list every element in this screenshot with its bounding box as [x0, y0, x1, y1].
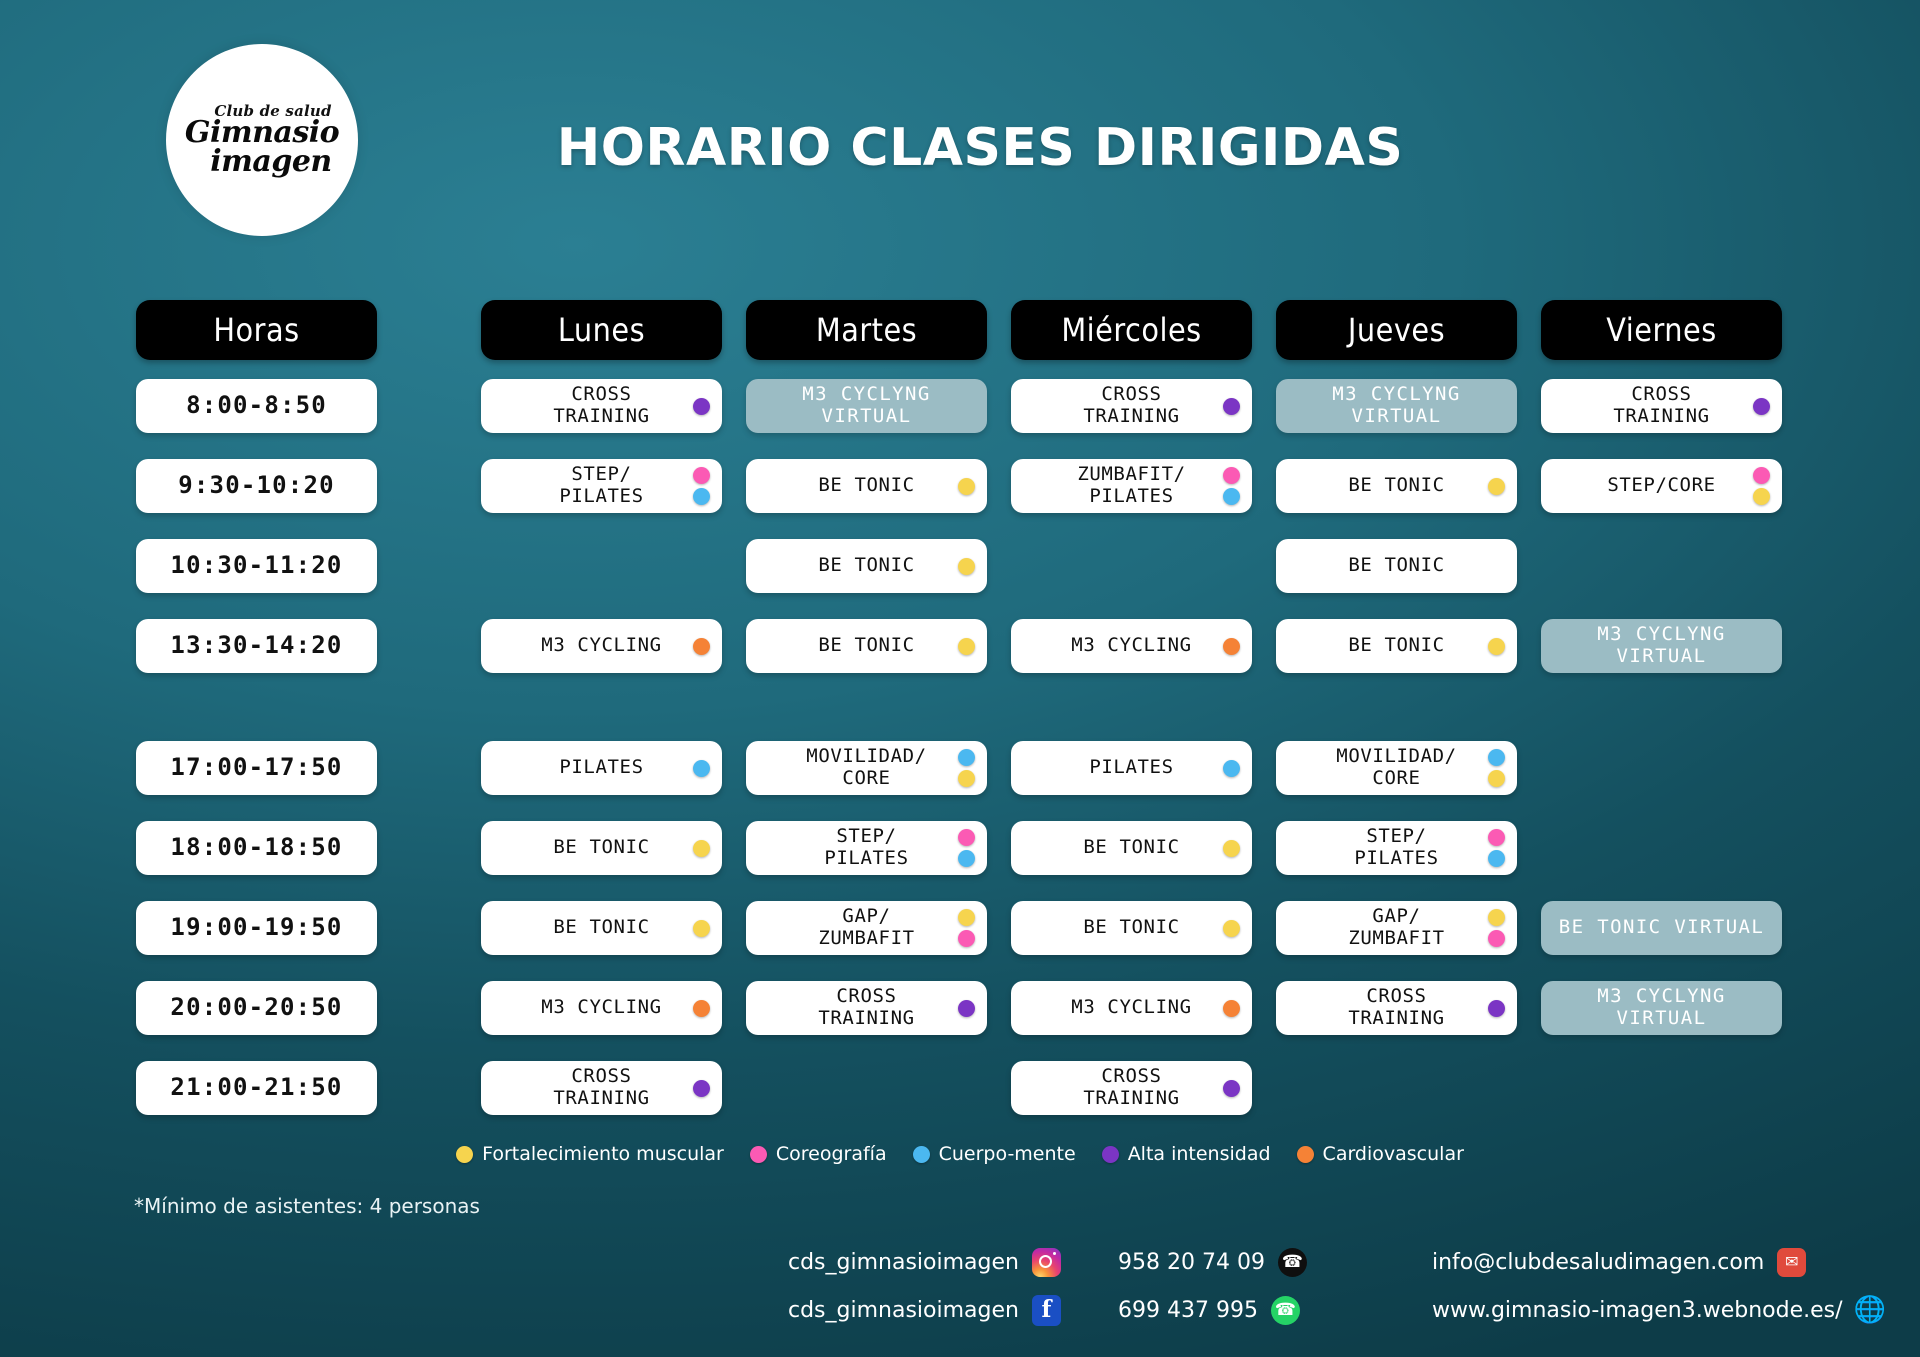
category-dot-yellow	[1488, 909, 1505, 926]
category-dot-blue	[1223, 760, 1240, 777]
legend-item: Coreografía	[750, 1143, 887, 1165]
category-dot-yellow	[693, 920, 710, 937]
category-dot-orange	[1223, 638, 1240, 655]
cell-label: BE TONIC VIRTUAL	[1559, 917, 1764, 939]
class-cell[interactable]: BE TONIC	[746, 539, 987, 593]
header-day-lunes: Lunes	[481, 300, 722, 360]
cell-label: M3 CYCLING	[1071, 997, 1191, 1019]
legend-item: Fortalecimiento muscular	[456, 1143, 724, 1165]
category-dots	[693, 619, 710, 673]
cell-label: M3 CYCLING	[541, 635, 661, 657]
class-cell[interactable]: M3 CYCLYNG VIRTUAL	[746, 379, 987, 433]
category-dots	[1223, 379, 1240, 433]
class-cell[interactable]: BE TONIC	[1011, 821, 1252, 875]
class-cell	[481, 539, 722, 593]
category-dot-pink	[1488, 930, 1505, 947]
whatsapp-row[interactable]: 699 437 995 ☎	[1118, 1286, 1307, 1334]
legend: Fortalecimiento muscularCoreografíaCuerp…	[0, 1143, 1920, 1165]
cell-label: 10:30-11:20	[170, 552, 342, 580]
category-dot-blue	[1223, 488, 1240, 505]
category-dots	[1223, 821, 1240, 875]
minimum-attendees-note: *Mínimo de asistentes: 4 personas	[134, 1194, 480, 1218]
cell-label: 20:00-20:50	[170, 994, 342, 1022]
cell-label: CROSS TRAINING	[1613, 384, 1709, 428]
category-dot-pink	[1753, 467, 1770, 484]
cell-label: CROSS TRAINING	[553, 384, 649, 428]
header-day-jueves: Jueves	[1276, 300, 1517, 360]
cell-label: CROSS TRAINING	[553, 1066, 649, 1110]
class-cell[interactable]: MOVILIDAD/ CORE	[1276, 741, 1517, 795]
cell-label: STEP/ PILATES	[1354, 826, 1438, 870]
cell-label: MOVILIDAD/ CORE	[806, 746, 926, 790]
cell-label: BE TONIC	[818, 635, 914, 657]
category-dot-purple	[1488, 1000, 1505, 1017]
category-dots	[958, 741, 975, 795]
category-dot-yellow	[958, 638, 975, 655]
hours-cell[interactable]: 10:30-11:20	[136, 539, 377, 593]
category-dot-blue	[958, 749, 975, 766]
cell-label: 18:00-18:50	[170, 834, 342, 862]
cell-label: M3 CYCLYNG VIRTUAL	[1597, 624, 1725, 668]
category-dot-purple	[693, 398, 710, 415]
legend-label: Fortalecimiento muscular	[482, 1143, 724, 1165]
category-dot-yellow	[1223, 920, 1240, 937]
phone-row[interactable]: 958 20 74 09 ☎	[1118, 1238, 1307, 1286]
category-dots	[958, 459, 975, 513]
legend-item: Cuerpo-mente	[913, 1143, 1076, 1165]
class-cell	[1541, 539, 1782, 593]
cell-label: STEP/ PILATES	[559, 464, 643, 508]
logo-line-2: imagen	[203, 148, 339, 177]
category-dot-pink	[958, 829, 975, 846]
category-dots	[1753, 379, 1770, 433]
page-title: HORARIO CLASES DIRIGIDAS	[400, 118, 1560, 178]
header-hours: Horas	[136, 300, 377, 360]
category-dot-yellow	[1223, 840, 1240, 857]
category-dots	[958, 821, 975, 875]
facebook-handle: cds_gimnasioimagen	[788, 1298, 1019, 1323]
phone-icon[interactable]: ☎	[1278, 1248, 1307, 1277]
category-dots	[693, 459, 710, 513]
legend-dot-orange	[1297, 1146, 1314, 1163]
category-dot-pink	[693, 467, 710, 484]
category-dot-yellow	[958, 478, 975, 495]
schedule-grid: Horas8:00-8:509:30-10:2010:30-11:2013:30…	[136, 300, 1796, 1141]
category-dot-orange	[693, 1000, 710, 1017]
cell-label: GAP/ ZUMBAFIT	[1348, 906, 1444, 950]
poster: Club de salud Gimnasio imagen HORARIO CL…	[0, 0, 1920, 1357]
category-dot-yellow	[1488, 638, 1505, 655]
cell-label: CROSS TRAINING	[1083, 384, 1179, 428]
cell-label: PILATES	[559, 757, 643, 779]
header-day-mircoles: Miércoles	[1011, 300, 1252, 360]
column-lunes: LunesCROSS TRAININGSTEP/ PILATESM3 CYCLI…	[481, 300, 722, 1141]
facebook-row[interactable]: cds_gimnasioimagen f	[788, 1286, 1061, 1334]
cell-label: 17:00-17:50	[170, 754, 342, 782]
instagram-handle: cds_gimnasioimagen	[788, 1250, 1019, 1275]
cell-label: PILATES	[1089, 757, 1173, 779]
hours-cell[interactable]: 13:30-14:20	[136, 619, 377, 673]
class-cell	[1541, 821, 1782, 875]
category-dot-purple	[958, 1000, 975, 1017]
category-dots	[1488, 741, 1505, 795]
category-dots	[693, 1061, 710, 1115]
cell-label: ZUMBAFIT/ PILATES	[1077, 464, 1185, 508]
category-dots	[1488, 821, 1505, 875]
column-jueves: JuevesM3 CYCLYNG VIRTUALBE TONICBE TONIC…	[1276, 300, 1517, 1141]
legend-item: Cardiovascular	[1297, 1143, 1464, 1165]
cell-label: STEP/CORE	[1607, 475, 1715, 497]
header-day-viernes: Viernes	[1541, 300, 1782, 360]
class-cell[interactable]: BE TONIC	[481, 901, 722, 955]
cell-label: M3 CYCLYNG VIRTUAL	[802, 384, 930, 428]
category-dot-blue	[1488, 749, 1505, 766]
globe-icon[interactable]: 🌐	[1856, 1296, 1885, 1325]
category-dot-yellow	[958, 770, 975, 787]
class-cell[interactable]: CROSS TRAINING	[746, 981, 987, 1035]
instagram-row[interactable]: cds_gimnasioimagen	[788, 1238, 1061, 1286]
website-row[interactable]: www.gimnasio-imagen3.webnode.es/ 🌐	[1432, 1286, 1885, 1334]
legend-dot-pink	[750, 1146, 767, 1163]
cell-label: BE TONIC	[553, 837, 649, 859]
logo: Club de salud Gimnasio imagen	[166, 44, 358, 236]
category-dots	[958, 981, 975, 1035]
facebook-icon[interactable]: f	[1032, 1295, 1061, 1326]
class-cell[interactable]: BE TONIC	[1011, 901, 1252, 955]
hours-cell[interactable]: 9:30-10:20	[136, 459, 377, 513]
cell-label: M3 CYCLYNG VIRTUAL	[1597, 986, 1725, 1030]
category-dot-purple	[1223, 398, 1240, 415]
cell-label: CROSS TRAINING	[1348, 986, 1444, 1030]
class-cell[interactable]: BE TONIC	[1276, 619, 1517, 673]
category-dot-pink	[958, 930, 975, 947]
class-cell[interactable]: BE TONIC	[1276, 539, 1517, 593]
legend-dot-yellow	[456, 1146, 473, 1163]
class-cell[interactable]: ZUMBAFIT/ PILATES	[1011, 459, 1252, 513]
category-dot-purple	[693, 1080, 710, 1097]
website-url: www.gimnasio-imagen3.webnode.es/	[1432, 1298, 1843, 1323]
category-dot-pink	[1488, 829, 1505, 846]
class-cell[interactable]: CROSS TRAINING	[1011, 1061, 1252, 1115]
column-viernes: ViernesCROSS TRAININGSTEP/COREM3 CYCLYNG…	[1541, 300, 1782, 1141]
class-cell[interactable]: STEP/ PILATES	[481, 459, 722, 513]
category-dots	[958, 619, 975, 673]
class-cell[interactable]: STEP/ PILATES	[746, 821, 987, 875]
cell-label: 8:00-8:50	[186, 392, 327, 420]
class-cell[interactable]: STEP/ PILATES	[1276, 821, 1517, 875]
category-dots	[1223, 1061, 1240, 1115]
cell-label: GAP/ ZUMBAFIT	[818, 906, 914, 950]
column-hours: Horas8:00-8:509:30-10:2010:30-11:2013:30…	[136, 300, 377, 1141]
class-cell[interactable]: M3 CYCLING	[481, 981, 722, 1035]
class-cell[interactable]: PILATES	[1011, 741, 1252, 795]
category-dot-blue	[958, 850, 975, 867]
class-cell	[1276, 1061, 1517, 1115]
hours-cell[interactable]: 20:00-20:50	[136, 981, 377, 1035]
cell-label: 9:30-10:20	[178, 472, 335, 500]
class-cell[interactable]: BE TONIC	[746, 619, 987, 673]
footer: cds_gimnasioimagen cds_gimnasioimagen f …	[0, 1238, 1920, 1348]
cell-label: BE TONIC	[1348, 635, 1444, 657]
legend-label: Alta intensidad	[1128, 1143, 1271, 1165]
category-dot-blue	[693, 760, 710, 777]
class-cell[interactable]: BE TONIC	[481, 821, 722, 875]
email-icon[interactable]: ✉	[1777, 1248, 1806, 1277]
class-cell[interactable]: M3 CYCLING	[1011, 981, 1252, 1035]
cell-label: BE TONIC	[1083, 837, 1179, 859]
schedule-columns: Horas8:00-8:509:30-10:2010:30-11:2013:30…	[136, 300, 1796, 1141]
category-dots	[1488, 459, 1505, 513]
column-martes: MartesM3 CYCLYNG VIRTUALBE TONICBE TONIC…	[746, 300, 987, 1141]
class-cell[interactable]: CROSS TRAINING	[1541, 379, 1782, 433]
legend-dot-purple	[1102, 1146, 1119, 1163]
class-cell[interactable]: GAP/ ZUMBAFIT	[746, 901, 987, 955]
cell-label: 13:30-14:20	[170, 632, 342, 660]
cell-label: 21:00-21:50	[170, 1074, 342, 1102]
hours-cell[interactable]: 19:00-19:50	[136, 901, 377, 955]
legend-dot-blue	[913, 1146, 930, 1163]
class-cell[interactable]: CROSS TRAINING	[481, 379, 722, 433]
class-cell	[1541, 741, 1782, 795]
class-cell[interactable]: GAP/ ZUMBAFIT	[1276, 901, 1517, 955]
whatsapp-icon[interactable]: ☎	[1271, 1296, 1300, 1325]
hours-cell[interactable]: 18:00-18:50	[136, 821, 377, 875]
class-cell[interactable]: CROSS TRAINING	[481, 1061, 722, 1115]
cell-label: BE TONIC	[818, 475, 914, 497]
class-cell[interactable]: STEP/CORE	[1541, 459, 1782, 513]
category-dot-yellow	[1488, 770, 1505, 787]
hours-cell[interactable]: 8:00-8:50	[136, 379, 377, 433]
cell-label: STEP/ PILATES	[824, 826, 908, 870]
category-dots	[1223, 981, 1240, 1035]
cell-label: M3 CYCLYNG VIRTUAL	[1332, 384, 1460, 428]
logo-wordmark: Gimnasio imagen	[185, 119, 339, 176]
category-dot-purple	[1753, 398, 1770, 415]
cell-label: MOVILIDAD/ CORE	[1336, 746, 1456, 790]
category-dots	[693, 821, 710, 875]
category-dots	[1223, 619, 1240, 673]
hours-cell[interactable]: 17:00-17:50	[136, 741, 377, 795]
class-cell[interactable]: M3 CYCLYNG VIRTUAL	[1541, 619, 1782, 673]
category-dot-blue	[693, 488, 710, 505]
cell-label: BE TONIC	[1348, 475, 1444, 497]
category-dot-yellow	[1488, 478, 1505, 495]
category-dot-blue	[1488, 850, 1505, 867]
instagram-icon[interactable]	[1032, 1248, 1061, 1277]
hours-cell[interactable]: 21:00-21:50	[136, 1061, 377, 1115]
category-dot-pink	[1223, 467, 1240, 484]
class-cell[interactable]: BE TONIC	[1276, 459, 1517, 513]
class-cell	[746, 1061, 987, 1115]
cell-label: CROSS TRAINING	[818, 986, 914, 1030]
cell-label: 19:00-19:50	[170, 914, 342, 942]
header-day-martes: Martes	[746, 300, 987, 360]
class-cell	[1011, 539, 1252, 593]
legend-item: Alta intensidad	[1102, 1143, 1271, 1165]
category-dot-orange	[1223, 1000, 1240, 1017]
category-dots	[1223, 459, 1240, 513]
class-cell[interactable]: CROSS TRAINING	[1011, 379, 1252, 433]
class-cell[interactable]: BE TONIC VIRTUAL	[1541, 901, 1782, 955]
legend-label: Cardiovascular	[1323, 1143, 1464, 1165]
cell-label: BE TONIC	[1348, 555, 1444, 577]
category-dots	[1488, 981, 1505, 1035]
phone-number: 958 20 74 09	[1118, 1250, 1265, 1275]
class-cell[interactable]: MOVILIDAD/ CORE	[746, 741, 987, 795]
class-cell[interactable]: M3 CYCLYNG VIRTUAL	[1541, 981, 1782, 1035]
category-dots	[1753, 459, 1770, 513]
category-dot-purple	[1223, 1080, 1240, 1097]
category-dots	[693, 379, 710, 433]
class-cell[interactable]: M3 CYCLING	[1011, 619, 1252, 673]
category-dot-yellow	[1753, 488, 1770, 505]
class-cell[interactable]: M3 CYCLYNG VIRTUAL	[1276, 379, 1517, 433]
cell-label: M3 CYCLING	[541, 997, 661, 1019]
category-dots	[958, 539, 975, 593]
class-cell[interactable]: CROSS TRAINING	[1276, 981, 1517, 1035]
category-dots	[1488, 901, 1505, 955]
cell-label: BE TONIC	[818, 555, 914, 577]
whatsapp-number: 699 437 995	[1118, 1298, 1258, 1323]
email-row[interactable]: info@clubdesaludimagen.com ✉	[1432, 1238, 1885, 1286]
category-dots	[1223, 741, 1240, 795]
category-dot-yellow	[958, 909, 975, 926]
category-dots	[958, 901, 975, 955]
cell-label: CROSS TRAINING	[1083, 1066, 1179, 1110]
cell-label: BE TONIC	[1083, 917, 1179, 939]
category-dots	[693, 901, 710, 955]
class-cell[interactable]: PILATES	[481, 741, 722, 795]
category-dots	[693, 741, 710, 795]
category-dots	[1223, 901, 1240, 955]
class-cell	[1541, 1061, 1782, 1115]
category-dots	[693, 981, 710, 1035]
class-cell[interactable]: M3 CYCLING	[481, 619, 722, 673]
cell-label: BE TONIC	[553, 917, 649, 939]
cell-label: M3 CYCLING	[1071, 635, 1191, 657]
legend-label: Coreografía	[776, 1143, 887, 1165]
legend-label: Cuerpo-mente	[939, 1143, 1076, 1165]
email-address: info@clubdesaludimagen.com	[1432, 1250, 1764, 1275]
column-mircoles: MiércolesCROSS TRAININGZUMBAFIT/ PILATES…	[1011, 300, 1252, 1141]
category-dot-yellow	[958, 558, 975, 575]
category-dots	[1488, 619, 1505, 673]
category-dot-orange	[693, 638, 710, 655]
category-dot-yellow	[693, 840, 710, 857]
class-cell[interactable]: BE TONIC	[746, 459, 987, 513]
